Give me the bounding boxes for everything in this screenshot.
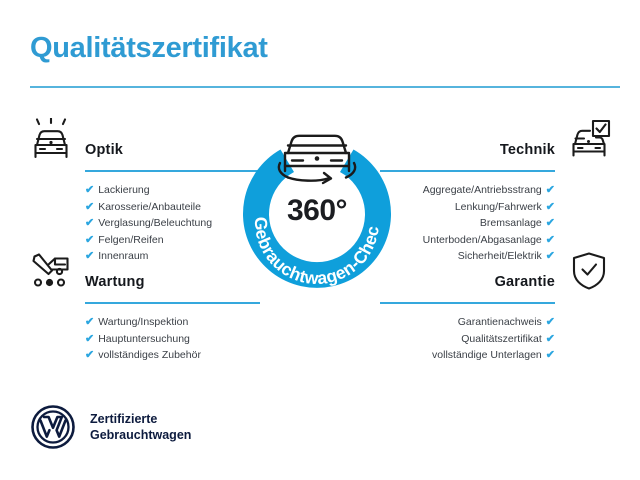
check-icon: ✔	[546, 316, 555, 328]
check-icon: ✔	[546, 217, 555, 229]
page-title: Qualitätszertifikat	[30, 32, 268, 65]
list-item-label: Felgen/Reifen	[98, 234, 163, 246]
section-garantie: Garantie Garantienachweis✔ Qualitätszert…	[380, 272, 610, 364]
list-item: Qualitätszertifikat✔	[380, 331, 610, 348]
list-item-label: Innenraum	[98, 250, 148, 262]
check-icon: ✔	[546, 201, 555, 213]
list-item-label: Unterboden/Abgasanlage	[423, 234, 542, 246]
check-icon: ✔	[85, 201, 94, 213]
section-wartung-rule	[85, 302, 260, 304]
footer-line-2: Gebrauchtwagen	[90, 427, 191, 443]
vw-footer-logo: Zertifizierte Gebrauchtwagen	[30, 404, 191, 450]
car-shine-icon	[28, 118, 74, 160]
list-item: ✔Felgen/Reifen	[30, 232, 260, 249]
check-icon: ✔	[85, 349, 94, 361]
section-garantie-header: Garantie	[380, 272, 610, 306]
list-item-label: Garantienachweis	[458, 316, 542, 328]
list-item: vollständige Unterlagen✔	[380, 347, 610, 364]
section-technik-rule	[380, 170, 555, 172]
list-item: Aggregate/Antriebsstrang✔	[380, 182, 610, 199]
list-item: ✔Verglasung/Beleuchtung	[30, 215, 260, 232]
list-item: ✔vollständiges Zubehör	[30, 347, 260, 364]
section-garantie-title: Garantie	[380, 272, 555, 292]
list-item-label: Bremsanlage	[480, 217, 542, 229]
car-rotate-icon	[279, 136, 355, 183]
section-technik-header: Technik	[380, 140, 610, 174]
check-icon: ✔	[85, 333, 94, 345]
check-icon: ✔	[85, 234, 94, 246]
list-item-label: Lackierung	[98, 184, 149, 196]
list-item-label: Verglasung/Beleuchtung	[98, 217, 212, 229]
car-checkbox-icon	[566, 118, 612, 160]
section-technik-title: Technik	[380, 140, 555, 160]
check-icon: ✔	[546, 349, 555, 361]
section-optik: Optik ✔Lackierung ✔Karosserie/Anbauteile…	[30, 140, 260, 265]
list-item: Unterboden/Abgasanlage✔	[380, 232, 610, 249]
section-garantie-list: Garantienachweis✔ Qualitätszertifikat✔ v…	[380, 314, 610, 364]
footer-line-1: Zertifizierte	[90, 411, 191, 427]
check-icon: ✔	[85, 316, 94, 328]
check-icon: ✔	[546, 234, 555, 246]
section-wartung: Wartung ✔Wartung/Inspektion ✔Hauptunters…	[30, 272, 260, 364]
list-item-label: Hauptuntersuchung	[98, 333, 190, 345]
check-icon: ✔	[546, 184, 555, 196]
vw-logo-icon	[30, 404, 76, 450]
list-item-label: vollständige Unterlagen	[432, 349, 542, 361]
list-item-label: Qualitätszertifikat	[461, 333, 542, 345]
section-wartung-list: ✔Wartung/Inspektion ✔Hauptuntersuchung ✔…	[30, 314, 260, 364]
badge-360-check: Gebrauchtwagen-Check 360°	[228, 122, 406, 300]
list-item-label: Lenkung/Fahrwerk	[455, 201, 542, 213]
section-technik: Technik Aggregate/Antriebsstrang✔ Lenkun…	[380, 140, 610, 265]
section-optik-header: Optik	[30, 140, 260, 174]
list-item-label: Wartung/Inspektion	[98, 316, 188, 328]
list-item: ✔Wartung/Inspektion	[30, 314, 260, 331]
list-item: ✔Hauptuntersuchung	[30, 331, 260, 348]
check-icon: ✔	[85, 184, 94, 196]
list-item-label: Karosserie/Anbauteile	[98, 201, 201, 213]
list-item: ✔Karosserie/Anbauteile	[30, 199, 260, 216]
certificate-page: Qualitätszertifikat Optik	[0, 0, 640, 480]
list-item-label: vollständiges Zubehör	[98, 349, 201, 361]
check-icon: ✔	[85, 217, 94, 229]
header-divider	[30, 86, 620, 88]
section-wartung-header: Wartung	[30, 272, 260, 306]
list-item: Bremsanlage✔	[380, 215, 610, 232]
check-icon: ✔	[85, 250, 94, 262]
list-item: ✔Lackierung	[30, 182, 260, 199]
check-icon: ✔	[546, 250, 555, 262]
check-icon: ✔	[546, 333, 555, 345]
footer-text: Zertifizierte Gebrauchtwagen	[90, 411, 191, 443]
car-wrench-icon	[28, 250, 74, 292]
shield-check-icon	[566, 250, 612, 292]
section-garantie-rule	[380, 302, 555, 304]
list-item: Garantienachweis✔	[380, 314, 610, 331]
list-item-label: Aggregate/Antriebsstrang	[423, 184, 542, 196]
list-item-label: Sicherheit/Elektrik	[458, 250, 542, 262]
list-item: Lenkung/Fahrwerk✔	[380, 199, 610, 216]
